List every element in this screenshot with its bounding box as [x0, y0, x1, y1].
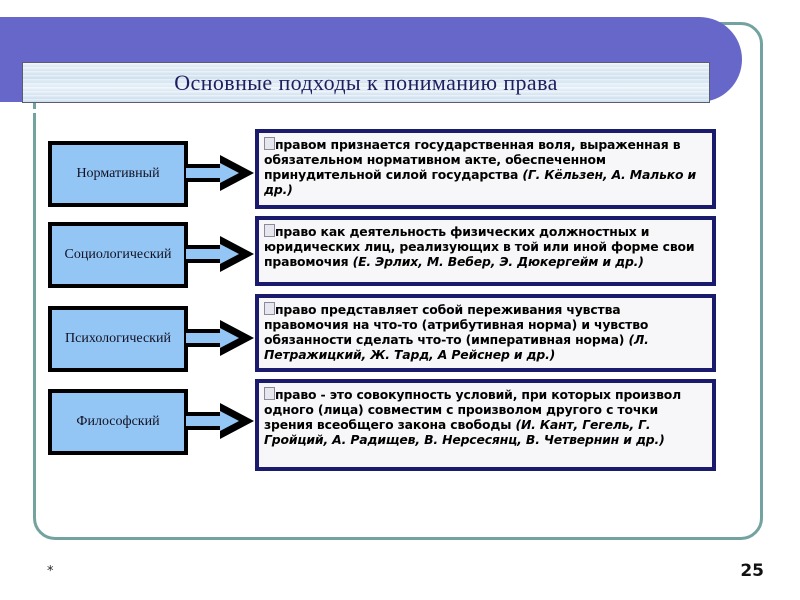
flow-arrow-icon — [186, 155, 258, 191]
bullet-box-icon — [264, 387, 275, 400]
flow-arrow-icon — [186, 236, 258, 272]
approach-description: право как деятельность физических должно… — [264, 224, 706, 269]
approach-label: Социологический — [61, 247, 176, 262]
description-regular: право представляет собой переживания чув… — [264, 302, 648, 347]
arrow-head-fill — [220, 163, 239, 183]
approach-label-box[interactable]: Философский — [48, 389, 188, 455]
approach-label-box[interactable]: Социологический — [48, 222, 188, 288]
approach-description-box[interactable]: правом признается государственная воля, … — [255, 129, 716, 209]
approach-description: право представляет собой переживания чув… — [264, 302, 706, 363]
approach-label-box[interactable]: Нормативный — [48, 141, 188, 207]
header-divider-rule — [0, 109, 712, 113]
approach-description-box[interactable]: право - это совокупность условий, при ко… — [255, 379, 716, 471]
page-title: Основные подходы к пониманию права — [174, 70, 558, 96]
approach-description-box[interactable]: право представляет собой переживания чув… — [255, 294, 716, 372]
arrow-head-fill — [220, 328, 239, 348]
approach-label: Нормативный — [72, 166, 163, 181]
footer-marker: * — [47, 564, 54, 579]
title-plaque: Основные подходы к пониманию права — [22, 62, 710, 103]
approach-description: правом признается государственная воля, … — [264, 137, 706, 198]
approach-label: Философский — [72, 414, 163, 429]
description-italic: (Е. Эрлих, М. Вебер, Э. Дюкергейм и др.) — [353, 254, 644, 269]
header-band: Основные подходы к пониманию права — [0, 17, 742, 102]
arrow-head-fill — [220, 244, 239, 264]
bullet-box-icon — [264, 137, 275, 150]
page-number: 25 — [740, 561, 764, 581]
bullet-box-icon — [264, 302, 275, 315]
approach-label-box[interactable]: Психологический — [48, 306, 188, 372]
flow-arrow-icon — [186, 403, 258, 439]
flow-arrow-icon — [186, 320, 258, 356]
arrow-head-fill — [220, 411, 239, 431]
bullet-box-icon — [264, 224, 275, 237]
slide: Основные подходы к пониманию права Норма… — [0, 0, 800, 600]
approach-label: Психологический — [61, 331, 175, 346]
approach-description: право - это совокупность условий, при ко… — [264, 387, 706, 448]
approach-description-box[interactable]: право как деятельность физических должно… — [255, 216, 716, 286]
